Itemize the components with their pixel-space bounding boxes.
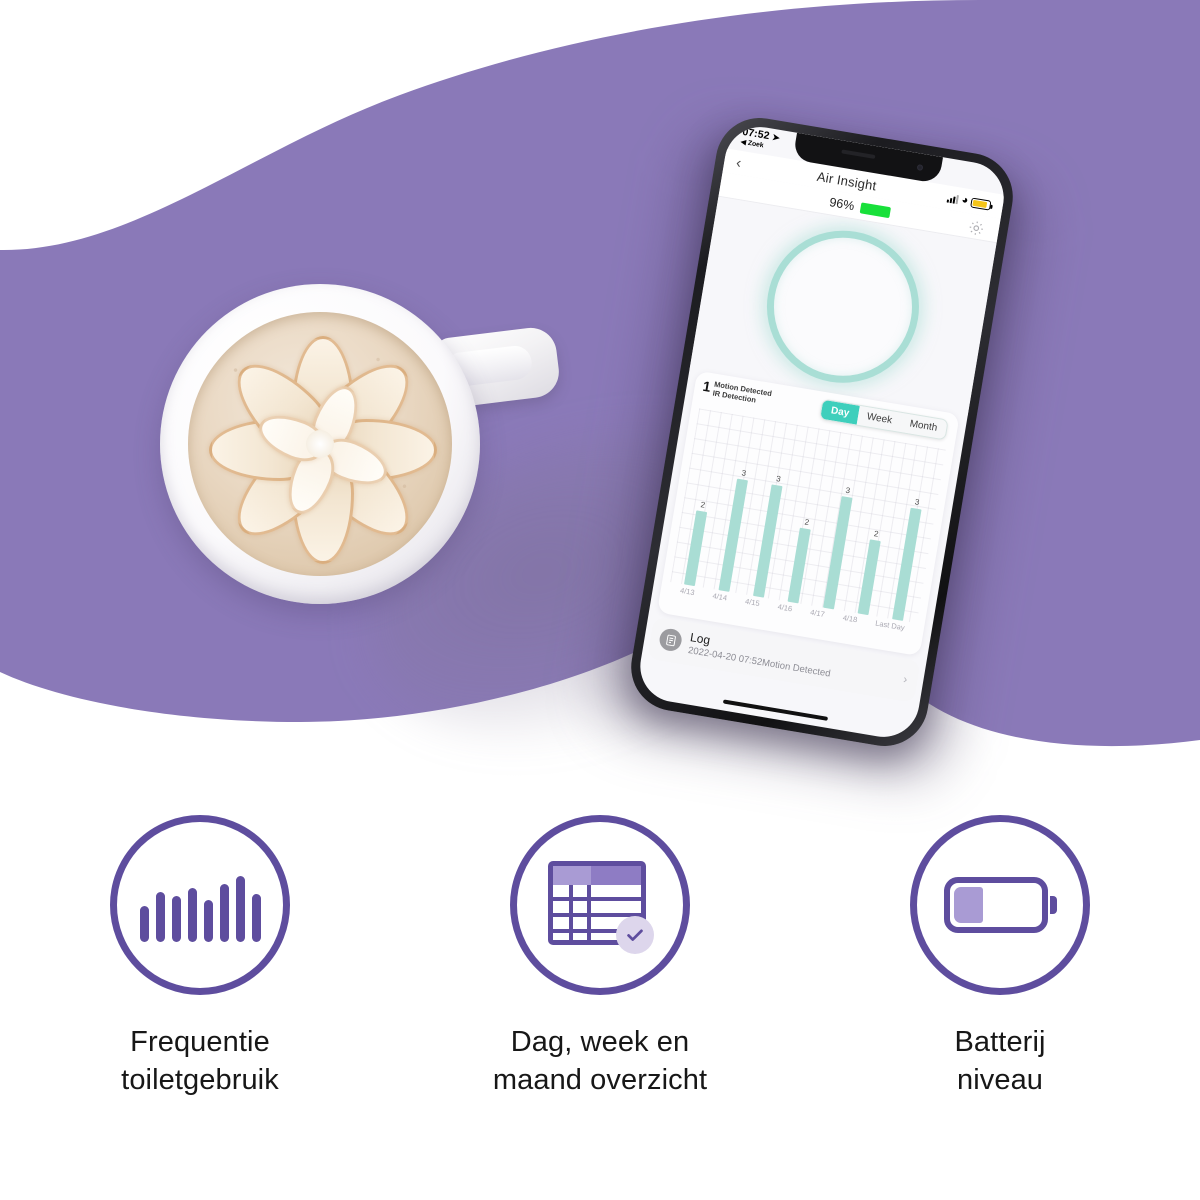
log-document-icon: [658, 628, 683, 653]
bar-value-label: 3: [845, 486, 851, 496]
coffee-cup: [150, 270, 630, 620]
table-header-cell: [553, 866, 591, 885]
bar-rect: [823, 496, 852, 609]
feature-overview: Dag, week en maand overzicht: [400, 815, 800, 1100]
x-axis-label: 4/14: [712, 591, 728, 602]
poster-canvas: 07:52 ➤ ◀ Zoek ‹ Air Insight: [0, 0, 1200, 1200]
tab-month[interactable]: Month: [899, 413, 947, 439]
bar-column: 2: [857, 440, 897, 615]
x-axis-label: Last Day: [875, 618, 906, 632]
device-battery-percent: 96%: [828, 195, 855, 213]
frequency-bars-icon: [140, 868, 261, 942]
chart-header-labels: Motion Detected IR Detection: [712, 381, 772, 408]
tab-week[interactable]: Week: [857, 406, 903, 432]
chevron-right-icon[interactable]: ›: [902, 672, 908, 686]
chevron-left-icon[interactable]: ‹: [735, 155, 759, 173]
bar-column: 3: [719, 417, 759, 592]
x-axis-label: 4/16: [777, 602, 793, 613]
feature-label-line1: Batterij: [954, 1023, 1045, 1061]
feature-icon-circle: [910, 815, 1090, 995]
bar-rect: [857, 539, 880, 615]
check-badge-icon: [616, 916, 654, 954]
battery-icon: [970, 197, 991, 210]
feature-label-line1: Frequentie: [121, 1023, 279, 1061]
frequency-bar: [204, 900, 213, 942]
calendar-table-check-icon: [548, 859, 652, 951]
feature-label: Frequentie toiletgebruik: [121, 1023, 279, 1100]
frequency-bar: [220, 884, 229, 942]
x-axis-label: 4/15: [744, 597, 760, 608]
feature-label-line1: Dag, week en: [493, 1023, 707, 1061]
frequency-bar: [188, 888, 197, 942]
x-axis-label: 4/18: [842, 613, 858, 624]
wifi-icon: ◕: [961, 195, 969, 207]
bar-value-label: 3: [741, 468, 747, 478]
gear-icon[interactable]: [966, 218, 986, 238]
bar-column: 3: [753, 422, 793, 597]
phone-mockup: 07:52 ➤ ◀ Zoek ‹ Air Insight: [625, 111, 1020, 752]
table-header-cell: [591, 866, 641, 885]
cup-body: [160, 284, 480, 604]
air-quality-ring: [756, 219, 931, 394]
x-axis-label: 4/13: [679, 586, 695, 597]
feature-label-line2: toiletgebruik: [121, 1061, 279, 1099]
bar-value-label: 2: [700, 500, 706, 510]
motion-chart-card: 1 Motion Detected IR Detection Day Week …: [657, 371, 960, 657]
feature-label: Dag, week en maand overzicht: [493, 1023, 707, 1100]
foam-center: [306, 430, 334, 458]
feature-label: Batterij niveau: [954, 1023, 1045, 1100]
feature-icon-circle: [110, 815, 290, 995]
bar-rect: [719, 479, 748, 592]
frequency-bar: [236, 876, 245, 942]
table-gridline: [587, 885, 591, 940]
feature-icon-circle: [510, 815, 690, 995]
back-triangle-icon: ◀: [740, 139, 746, 147]
bar-value-label: 3: [914, 497, 920, 507]
motion-count: 1: [702, 379, 712, 394]
battery-level-bar: [859, 202, 890, 218]
feature-label-line2: niveau: [954, 1061, 1045, 1099]
tab-day[interactable]: Day: [821, 400, 860, 425]
feature-frequency: Frequentie toiletgebruik: [0, 815, 400, 1100]
latte-surface: [188, 312, 452, 576]
battery-cap: [1050, 896, 1057, 914]
feature-list: Frequentie toiletgebruik: [0, 815, 1200, 1100]
bar-rect: [753, 484, 782, 597]
table-header-row: [553, 866, 641, 885]
table-gridline: [569, 885, 573, 940]
location-arrow-icon: ➤: [772, 133, 781, 143]
frequency-bar: [156, 892, 165, 942]
bar-rect: [892, 508, 921, 621]
frequency-bar: [172, 896, 181, 942]
feature-label-line2: maand overzicht: [493, 1061, 707, 1099]
bar-column: 2: [788, 428, 828, 603]
frequency-bar: [140, 906, 149, 942]
back-app-label: Zoek: [747, 140, 764, 150]
frequency-bar: [252, 894, 261, 942]
battery-level-icon: [944, 874, 1056, 936]
battery-body: [944, 877, 1048, 933]
status-bar-left: 07:52 ➤ ◀ Zoek: [740, 127, 781, 152]
bar-column: 2: [684, 411, 724, 586]
bar-rect: [684, 510, 707, 586]
table-gridline: [553, 897, 641, 901]
bar-column: 3: [823, 434, 863, 609]
bar-value-label: 3: [776, 474, 782, 484]
bar-rect: [788, 528, 811, 604]
home-indicator: [723, 699, 828, 720]
x-axis-label: 4/17: [810, 608, 826, 619]
status-icons-group: ◕: [935, 191, 992, 211]
bar-column: 3: [892, 446, 932, 621]
battery-fill: [954, 887, 983, 923]
cellular-signal-icon: [947, 194, 959, 205]
bar-value-label: 2: [873, 529, 879, 539]
feature-battery: Batterij niveau: [800, 815, 1200, 1100]
bar-value-label: 2: [804, 517, 810, 527]
